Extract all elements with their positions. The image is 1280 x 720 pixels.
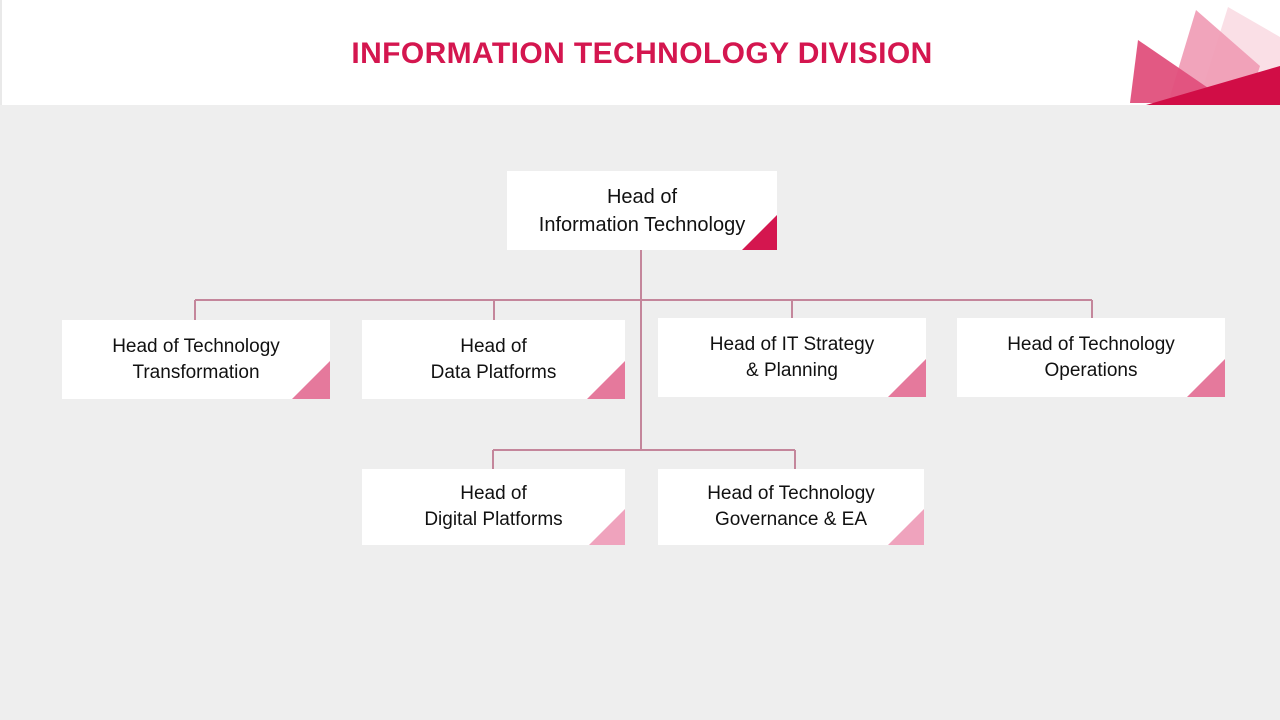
header-bar: INFORMATION TECHNOLOGY DIVISION — [0, 0, 1280, 105]
org-node-label: Head of Digital Platforms — [414, 481, 572, 533]
org-node-label: Head of Technology Governance & EA — [697, 481, 885, 533]
org-node-technology-governance-ea[interactable]: Head of Technology Governance & EA — [658, 469, 924, 545]
org-node-label: Head of Technology Transformation — [102, 334, 290, 386]
corner-accent-triangle — [1187, 359, 1225, 397]
org-node-technology-operations[interactable]: Head of Technology Operations — [957, 318, 1225, 397]
page-title: INFORMATION TECHNOLOGY DIVISION — [2, 0, 1280, 105]
org-node-digital-platforms[interactable]: Head of Digital Platforms — [362, 469, 625, 545]
corner-accent-triangle — [888, 359, 926, 397]
corner-accent-triangle — [589, 509, 625, 545]
org-node-label: Head of IT Strategy & Planning — [700, 332, 884, 384]
org-node-it-strategy-planning[interactable]: Head of IT Strategy & Planning — [658, 318, 926, 397]
org-node-label: Head of Technology Operations — [997, 332, 1185, 384]
org-node-root[interactable]: Head of Information Technology — [507, 171, 777, 250]
org-node-label: Head of Data Platforms — [421, 334, 567, 386]
org-node-data-platforms[interactable]: Head of Data Platforms — [362, 320, 625, 399]
org-chart: Head of Information Technology Head of T… — [0, 105, 1280, 720]
org-node-label: Head of Information Technology — [529, 183, 755, 239]
org-node-technology-transformation[interactable]: Head of Technology Transformation — [62, 320, 330, 399]
corner-accent-triangle — [587, 361, 625, 399]
corner-accent-triangle — [888, 509, 924, 545]
corner-accent-triangle — [292, 361, 330, 399]
